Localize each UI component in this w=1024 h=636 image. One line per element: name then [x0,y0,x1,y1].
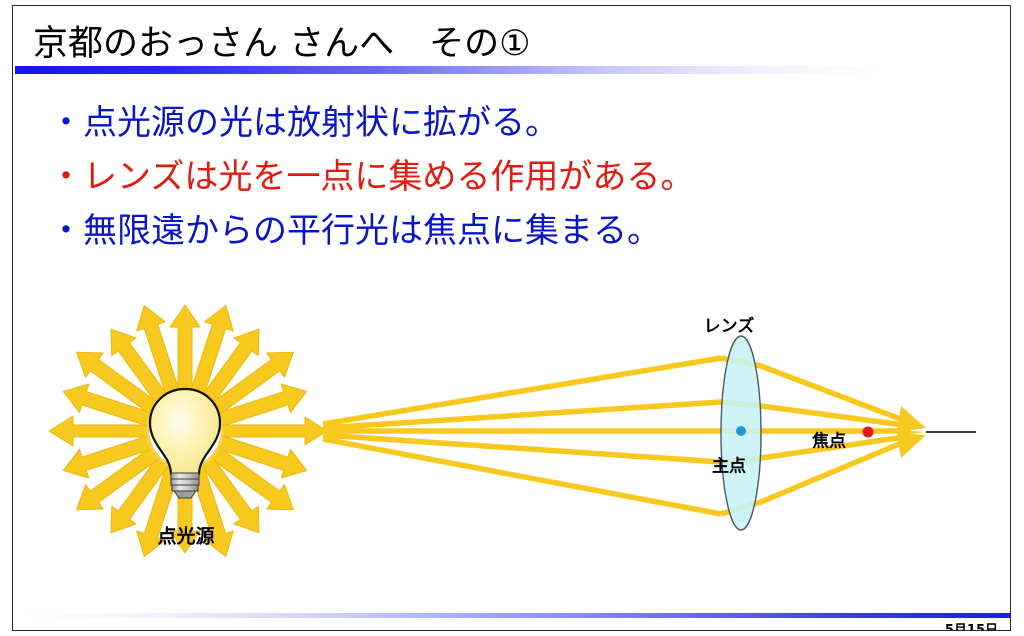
slide-root: 京都のおっさん さんへ その① ・点光源の光は放射状に拡がる。 ・レンズは光を一… [0,0,1024,636]
footer-date: 5月15日 [945,619,998,631]
label-principal-point: 主点 [712,452,746,477]
principal-point-dot [736,426,746,436]
light-bulb-icon [150,389,220,498]
slide-frame: 京都のおっさん さんへ その① ・点光源の光は放射状に拡がる。 ・レンズは光を一… [12,5,1011,631]
label-lens: レンズ [704,312,755,337]
label-point-source: 点光源 [157,522,214,549]
footer-gradient-rule [15,613,1011,618]
optics-diagram: 点光源 レンズ 主点 焦点 [13,6,1011,631]
focal-point-dot [863,427,874,438]
label-focal-point: 焦点 [812,427,846,452]
